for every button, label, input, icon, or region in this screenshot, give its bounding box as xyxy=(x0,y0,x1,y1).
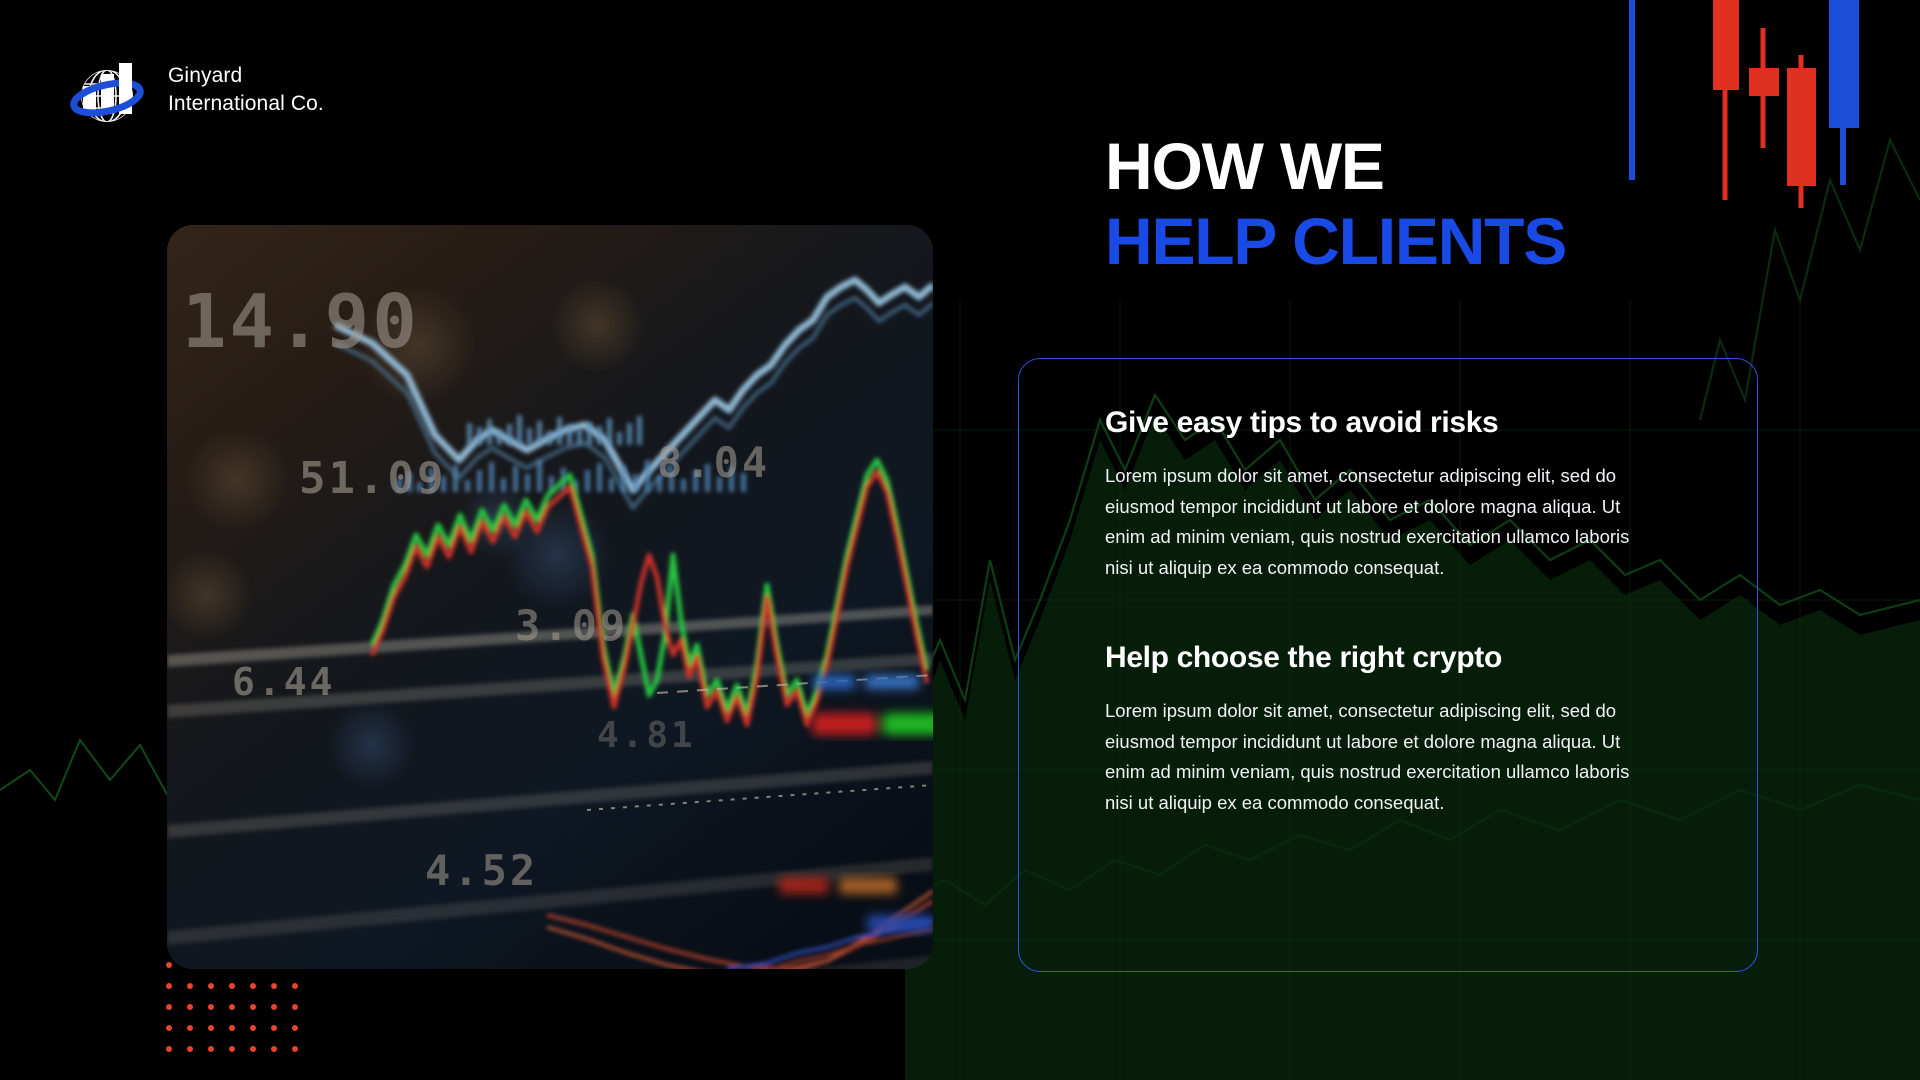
dot xyxy=(208,1004,214,1010)
dot xyxy=(166,1025,172,1031)
dot xyxy=(187,983,193,989)
bar-chart-globe-logo-icon xyxy=(68,56,146,124)
info-block-2-body: Lorem ipsum dolor sit amet, consectetur … xyxy=(1105,696,1645,819)
dot xyxy=(292,1025,298,1031)
dot xyxy=(271,1046,277,1052)
dot xyxy=(229,983,235,989)
info-block-1-heading: Give easy tips to avoid risks xyxy=(1105,405,1713,441)
brand-logo[interactable]: Ginyard International Co. xyxy=(68,56,324,124)
dot xyxy=(166,1004,172,1010)
dot xyxy=(250,1046,256,1052)
dot xyxy=(250,1025,256,1031)
dot xyxy=(187,1046,193,1052)
info-card: Give easy tips to avoid risks Lorem ipsu… xyxy=(1018,358,1758,972)
dot xyxy=(166,983,172,989)
dot xyxy=(292,1004,298,1010)
dot xyxy=(208,1046,214,1052)
dot xyxy=(229,1046,235,1052)
page-title: HOW WE HELP CLIENTS xyxy=(1105,132,1566,275)
brand-name: Ginyard International Co. xyxy=(168,62,324,117)
candlestick-decor xyxy=(1632,0,1859,208)
dot xyxy=(292,1046,298,1052)
dot xyxy=(187,1025,193,1031)
dot xyxy=(292,983,298,989)
dot xyxy=(250,1004,256,1010)
dot xyxy=(166,962,172,968)
info-block-2-heading: Help choose the right crypto xyxy=(1105,640,1713,676)
trading-terminal-photo: 14.90 51.09 8.04 6.44 3.09 4.52 4.81 xyxy=(167,225,933,969)
dot xyxy=(166,1046,172,1052)
headline-line-2: HELP CLIENTS xyxy=(1105,207,1566,276)
dot xyxy=(271,1025,277,1031)
dot xyxy=(229,1025,235,1031)
dot-grid-decor xyxy=(166,962,313,1067)
dot xyxy=(208,983,214,989)
dot xyxy=(271,983,277,989)
dot xyxy=(229,1004,235,1010)
dot xyxy=(208,1025,214,1031)
dot xyxy=(271,1004,277,1010)
info-block-2: Help choose the right crypto Lorem ipsum… xyxy=(1105,640,1713,819)
dot xyxy=(250,983,256,989)
info-block-1-body: Lorem ipsum dolor sit amet, consectetur … xyxy=(1105,461,1645,584)
headline-line-1: HOW WE xyxy=(1105,132,1566,201)
dot xyxy=(187,1004,193,1010)
info-block-1: Give easy tips to avoid risks Lorem ipsu… xyxy=(1105,405,1713,584)
